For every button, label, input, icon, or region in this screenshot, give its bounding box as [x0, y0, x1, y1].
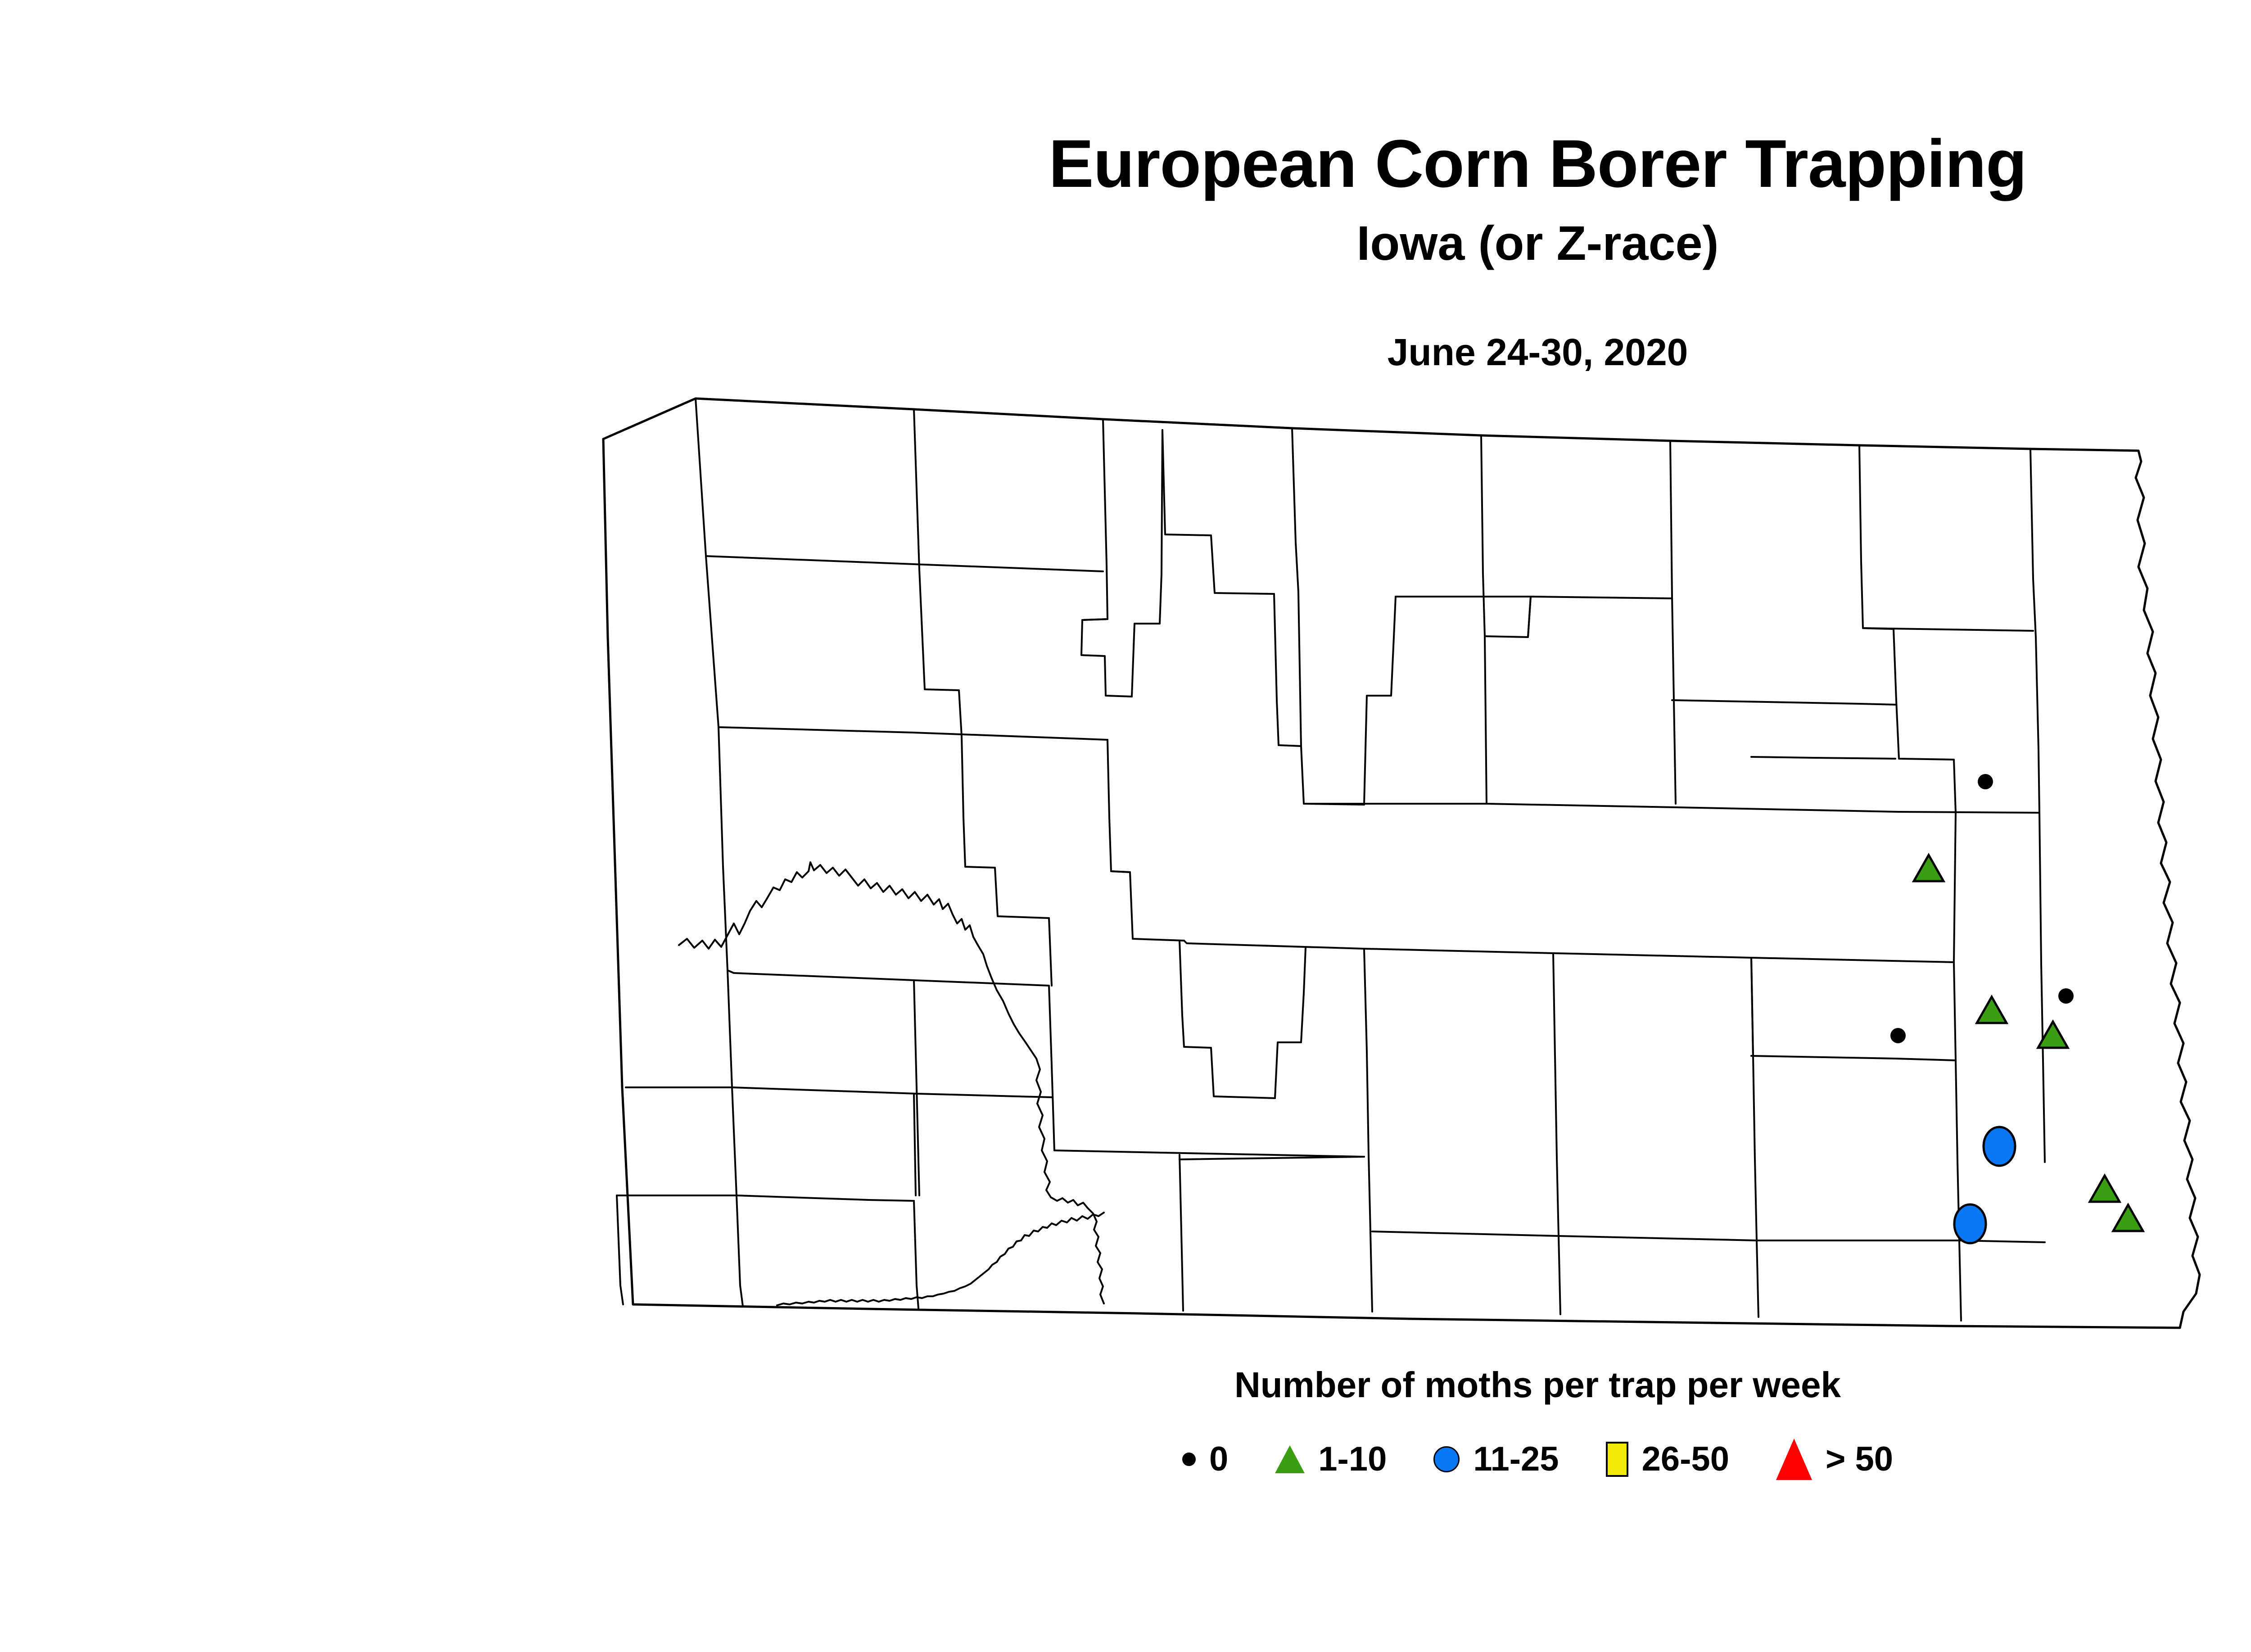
- legend-title: Number of moths per trap per week: [0, 1364, 2251, 1406]
- triangle-icon: [1275, 1445, 1305, 1473]
- square-icon: [1606, 1442, 1628, 1477]
- marker-zero: [1978, 774, 1993, 789]
- legend: 0 1-10 11-25 26-50 > 50: [0, 1439, 2251, 1480]
- marker-11-25: [1954, 1204, 1986, 1243]
- legend-item-1-10: 1-10: [1275, 1442, 1387, 1476]
- legend-label: 26-50: [1642, 1442, 1729, 1476]
- map-page: European Corn Borer Trapping Iowa (or Z-…: [0, 0, 2251, 1652]
- north-dakota-county-map: [599, 385, 2201, 1349]
- date-range-label: June 24-30, 2020: [0, 333, 2251, 371]
- legend-item-26-50: 26-50: [1606, 1442, 1729, 1477]
- marker-11-25: [1984, 1127, 2015, 1166]
- legend-label: 0: [1209, 1442, 1228, 1476]
- page-subtitle: Iowa (or Z-race): [0, 219, 2251, 267]
- dot-icon: [1182, 1453, 1196, 1466]
- marker-zero: [2058, 988, 2074, 1004]
- map-svg: [599, 385, 2201, 1349]
- page-title: European Corn Borer Trapping: [0, 130, 2251, 197]
- marker-zero: [1890, 1028, 1906, 1043]
- circle-icon: [1433, 1446, 1460, 1472]
- county-boundaries: [603, 398, 2200, 1328]
- legend-label: 1-10: [1318, 1442, 1387, 1476]
- state-outline: [603, 398, 2200, 1328]
- legend-label: > 50: [1826, 1442, 1893, 1476]
- legend-item-11-25: 11-25: [1433, 1442, 1559, 1476]
- legend-item-over-50: > 50: [1776, 1439, 1893, 1480]
- legend-item-0: 0: [1182, 1442, 1228, 1476]
- triangle-large-icon: [1776, 1439, 1812, 1480]
- legend-label: 11-25: [1473, 1442, 1559, 1476]
